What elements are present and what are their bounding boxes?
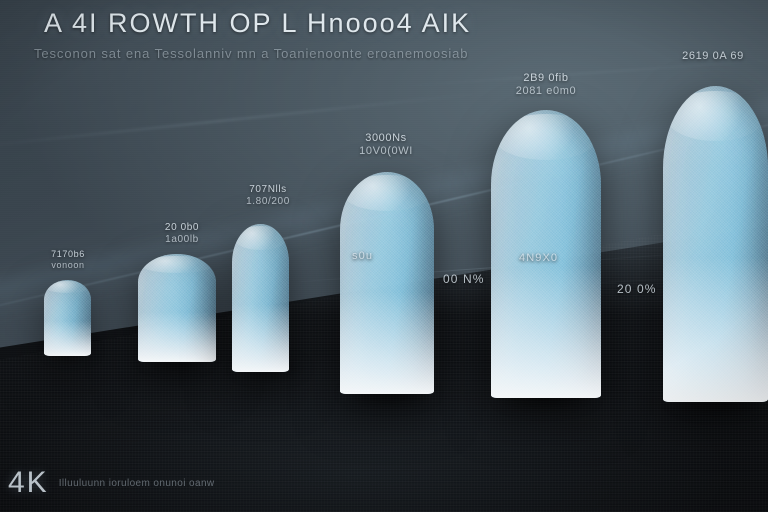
bar-cap-6	[666, 91, 765, 142]
bar-2[interactable]	[138, 254, 216, 362]
bar-cap-1	[45, 281, 89, 293]
bar-6[interactable]	[663, 86, 768, 402]
watermark-caption: Illuuluunn ioruloem onunoi oanw	[59, 478, 215, 489]
bar-group	[0, 0, 768, 512]
watermark-4k-badge: 4K	[8, 466, 49, 500]
bar-cap-4	[343, 175, 431, 211]
bar-4[interactable]	[340, 172, 434, 394]
bar-5[interactable]	[491, 110, 601, 398]
bar-base-fade-6	[663, 257, 768, 402]
bar-cap-3	[234, 226, 288, 250]
bar-base-fade-3	[232, 304, 289, 372]
bar-base-fade-5	[491, 266, 601, 398]
chart-canvas: A 4I ROWTH OP L Hnooo4 AIK Tesconon sat …	[0, 0, 768, 512]
bar-cap-2	[140, 256, 213, 273]
bar-1[interactable]	[44, 280, 91, 356]
chart-subtitle: Tesconon sat ena Tessolanniv mn a Toanie…	[34, 46, 468, 61]
bar-base-fade-2	[138, 312, 216, 362]
chart-title: A 4I ROWTH OP L Hnooo4 AIK	[44, 8, 471, 39]
bar-base-fade-1	[44, 321, 91, 356]
bar-3[interactable]	[232, 224, 289, 372]
bar-base-fade-4	[340, 292, 434, 394]
bar-cap-5	[494, 114, 597, 160]
watermark: 4K Illuuluunn ioruloem onunoi oanw	[8, 466, 215, 500]
